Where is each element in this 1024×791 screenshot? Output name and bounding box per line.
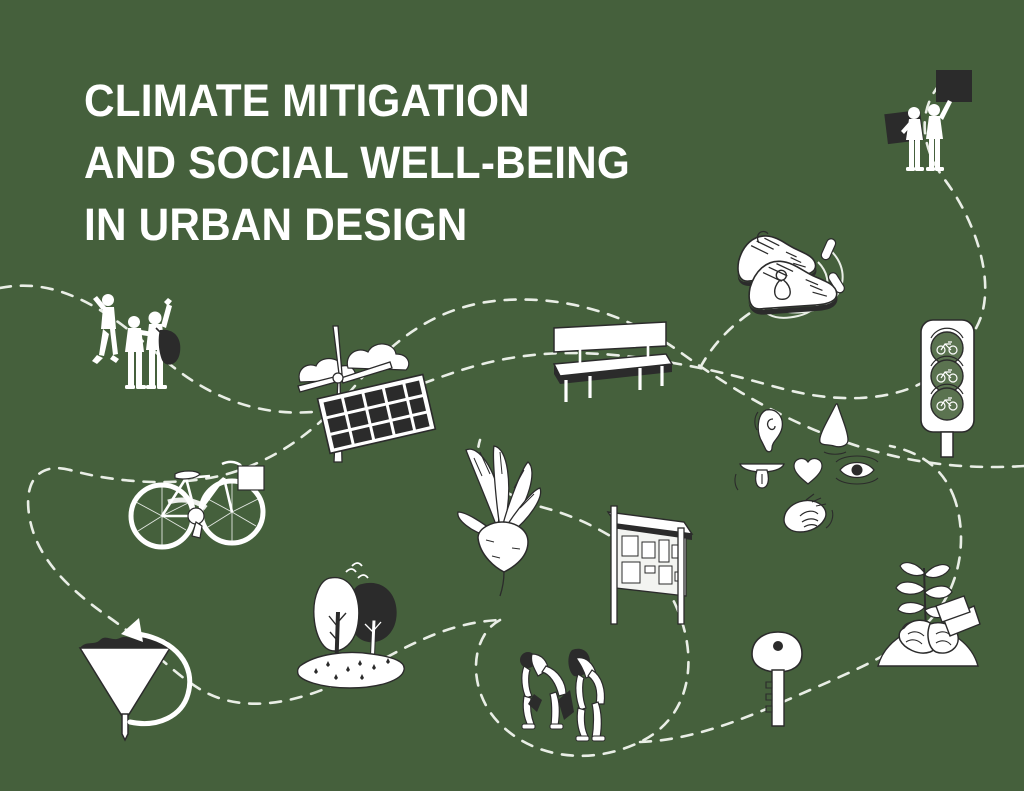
board-post-left <box>611 506 617 624</box>
bike-basket <box>238 466 264 490</box>
poster-canvas: CLIMATE MITIGATION AND SOCIAL WELL-BEING… <box>0 0 1024 791</box>
key-teeth <box>766 682 772 712</box>
funnel-spout <box>122 714 128 740</box>
key-bow <box>752 632 802 672</box>
traffic-light-pole <box>941 432 953 457</box>
key-shaft <box>772 670 784 726</box>
protest-sign-raised <box>936 70 972 102</box>
key-hole <box>773 641 783 651</box>
traffic-light-lamps <box>931 328 963 420</box>
board-post-right <box>678 528 684 624</box>
poster-illustration-layer <box>0 0 1024 791</box>
